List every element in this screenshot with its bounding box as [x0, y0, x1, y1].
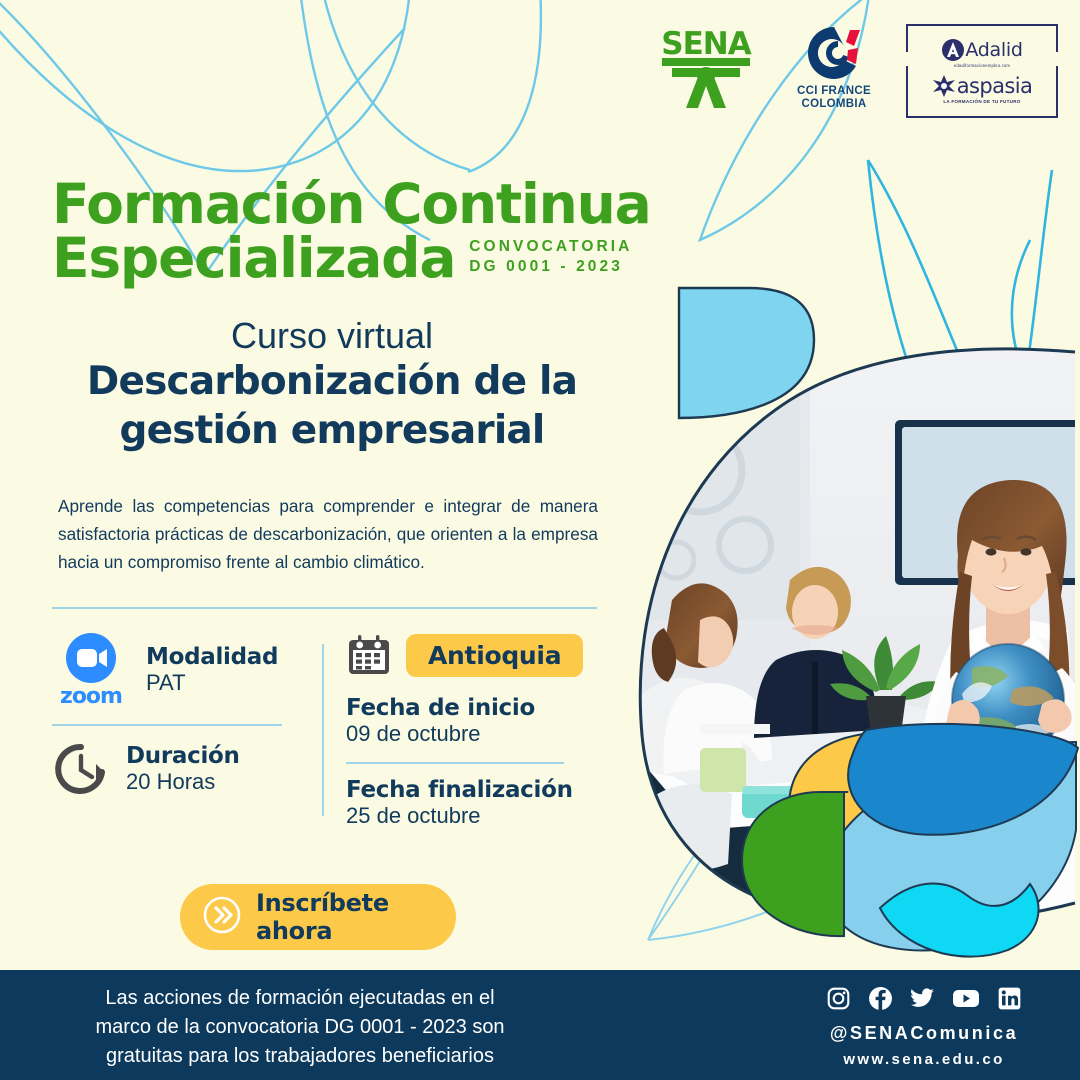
poster-canvas: SENA CCI FRANCE COLOMBIA [0, 0, 1080, 1080]
region-badge: Antioquia [406, 634, 583, 677]
footer-disclaimer-line2: marco de la convocatoria DG 0001 - 2023 … [0, 1013, 600, 1042]
aspasia-tagline: LA FORMACIÓN DE TU FUTURO [943, 99, 1020, 104]
modalidad-value: PAT [146, 670, 278, 696]
duracion-value: 20 Horas [126, 769, 240, 795]
course-title-line2: gestión empresarial [52, 409, 612, 453]
modalidad-row: zoom Modalidad PAT [52, 632, 304, 708]
clock-icon [52, 740, 110, 798]
footer-social-block: @SENAComunica www.sena.edu.co [804, 986, 1044, 1068]
enroll-button[interactable]: Inscríbete ahora [180, 884, 456, 950]
social-handle[interactable]: @SENAComunica [830, 1023, 1018, 1044]
zoom-wordmark: zoom [60, 686, 122, 708]
duracion-label: Duración [126, 743, 240, 769]
adalid-aspasia-logo-box: Adalid edadiformacionempleo.com aspasia … [906, 24, 1058, 118]
cci-line1: CCI FRANCE [797, 85, 871, 98]
course-details: zoom Modalidad PAT Duración [52, 632, 597, 830]
linkedin-icon[interactable] [997, 986, 1022, 1016]
convocatoria-line2: DG 0001 - 2023 [469, 257, 632, 277]
website-url[interactable]: www.sena.edu.co [843, 1051, 1004, 1068]
course-photo [620, 330, 1080, 936]
fecha-inicio-block: Fecha de inicio 09 de octubre [346, 695, 597, 748]
teal-droplet-shape [679, 288, 814, 418]
footer-disclaimer-line3: gratuitas para los trabajadores benefici… [0, 1042, 600, 1071]
aspasia-logo: aspasia LA FORMACIÓN DE TU FUTURO [932, 74, 1032, 104]
footer-disclaimer: Las acciones de formación ejecutadas en … [0, 984, 600, 1072]
divider-top [52, 607, 597, 609]
heading-line2: Especializada [52, 232, 455, 286]
footer-disclaimer-line1: Las acciones de formación ejecutadas en … [0, 984, 600, 1013]
fecha-fin-block: Fecha finalización 25 de octubre [346, 777, 597, 830]
duracion-row: Duración 20 Horas [52, 740, 304, 798]
double-chevron-right-icon [202, 895, 242, 940]
sena-logo: SENA [650, 24, 762, 110]
convocatoria-line1: CONVOCATORIA [469, 237, 632, 257]
details-left-column: zoom Modalidad PAT Duración [52, 632, 322, 830]
calendar-icon [346, 632, 392, 678]
fecha-inicio-label: Fecha de inicio [346, 695, 597, 721]
details-right-column: Antioquia Fecha de inicio 09 de octubre … [324, 632, 597, 830]
fecha-fin-value: 25 de octubre [346, 803, 597, 829]
twitter-icon[interactable] [910, 986, 935, 1016]
aspasia-wordmark: aspasia [957, 76, 1032, 97]
adalid-tagline: edadiformacionempleo.com [954, 63, 1010, 68]
course-description: Aprende las competencias para comprender… [58, 493, 598, 577]
program-heading: Formación Continua Especializada CONVOCA… [52, 178, 651, 286]
divider-fechas [346, 762, 564, 764]
cci-france-colombia-logo: CCI FRANCE COLOMBIA [788, 24, 880, 111]
bottom-color-blobs [742, 724, 1078, 957]
course-kicker: Curso virtual [52, 316, 612, 356]
footer-bar: Las acciones de formación ejecutadas en … [0, 970, 1080, 1080]
instagram-icon[interactable] [826, 986, 851, 1016]
youtube-icon[interactable] [952, 986, 980, 1016]
social-icons [826, 986, 1022, 1016]
facebook-icon[interactable] [868, 986, 893, 1016]
fecha-fin-label: Fecha finalización [346, 777, 597, 803]
course-title-line1: Descarbonización de la [52, 360, 612, 404]
course-title-block: Curso virtual Descarbonización de la ges… [52, 316, 612, 453]
heading-line1: Formación Continua [52, 178, 651, 232]
zoom-logo: zoom [52, 632, 130, 708]
convocatoria-label: CONVOCATORIA DG 0001 - 2023 [469, 237, 632, 286]
divider-modalidad-duracion [52, 724, 282, 726]
modalidad-label: Modalidad [146, 644, 278, 670]
adalid-wordmark: Adalid [965, 41, 1022, 60]
photo-leaf-outline [640, 349, 1075, 923]
svg-text:SENA: SENA [661, 26, 751, 62]
region-row: Antioquia [346, 632, 597, 678]
cci-line2: COLOMBIA [797, 98, 871, 111]
fecha-inicio-value: 09 de octubre [346, 721, 597, 747]
enroll-button-label: Inscríbete ahora [256, 889, 456, 945]
adalid-logo: Adalid edadiformacionempleo.com [941, 38, 1022, 68]
partner-logos: SENA CCI FRANCE COLOMBIA [650, 24, 1058, 118]
